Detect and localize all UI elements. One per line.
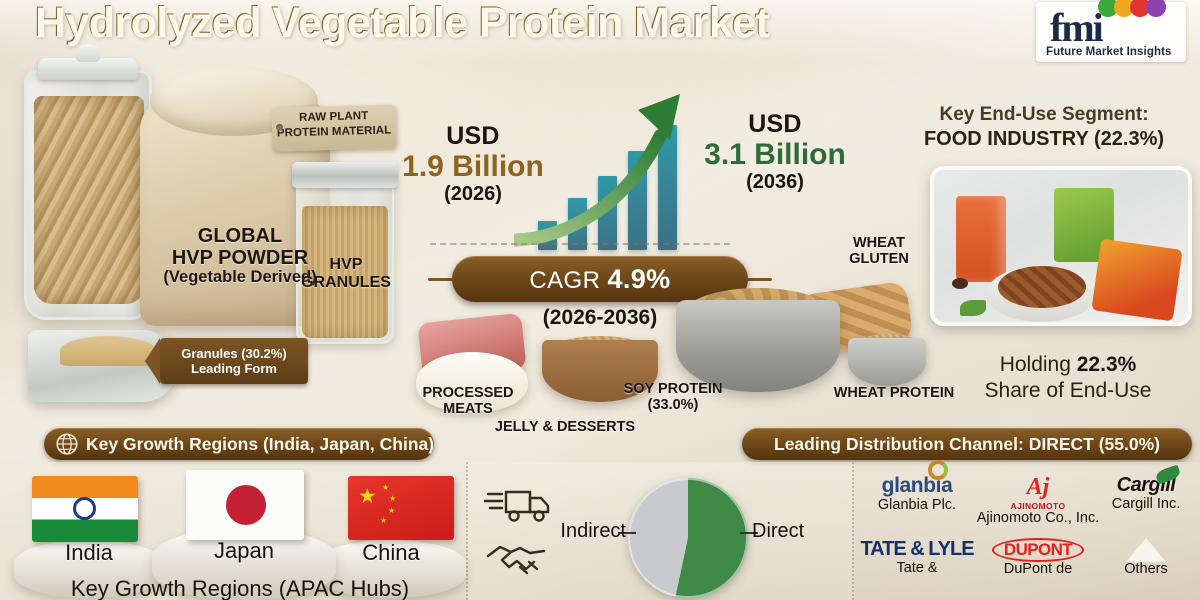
herb-leaf-image <box>960 300 986 316</box>
food-industry-photo <box>930 166 1192 326</box>
forecast-year: (2036) <box>690 171 860 194</box>
growth-bar-chart <box>520 90 700 250</box>
tate-lyle-logo-mark: TATE & LYLE <box>858 538 976 561</box>
page-title: Hydrolyzed Vegetable Protein Market <box>34 0 994 54</box>
ajinomoto-logo-mark: Aj <box>972 474 1104 501</box>
logo-dots-icon <box>1098 0 1168 19</box>
tate-lyle-caption: Tate & <box>858 561 976 577</box>
scoop-powder <box>60 336 156 366</box>
company-dupont: DUPONT DuPont de <box>972 538 1104 578</box>
label-soy-protein: SOY PROTEIN (33.0%) <box>608 382 738 414</box>
end-use-segment-title: Key End-Use Segment: FOOD INDUSTRY (22.3… <box>890 104 1198 151</box>
distribution-banner-label: Leading Distribution Channel: DIRECT (55… <box>774 434 1160 455</box>
juice-glass-image <box>956 196 1006 282</box>
holding-prefix: Holding <box>1000 353 1077 376</box>
logo-mark: fmi <box>1050 4 1102 51</box>
cagr-value: 4.9% <box>607 264 670 294</box>
raw-plant-material-tag: RAW PLANT PROTEIN MATERIAL <box>271 104 396 151</box>
bottle-cap <box>292 162 398 188</box>
hvp-granules-line2: GRANULES <box>300 274 392 292</box>
country-label-japan: Japan <box>152 538 336 564</box>
glanbia-logo-mark: glanbia <box>858 474 976 498</box>
chart-baseline-divider <box>430 243 730 245</box>
regions-banner-label: Key Growth Regions (India, Japan, China) <box>86 434 434 455</box>
infographic-canvas: Hydrolyzed Vegetable Protein Market fmi … <box>0 0 1200 600</box>
dupont-caption: DuPont de <box>972 562 1104 578</box>
orange-pouch-image <box>1091 239 1182 322</box>
label-jelly-desserts: JELLY & DESSERTS <box>484 420 646 436</box>
cargill-caption: Cargill Inc. <box>1094 497 1198 513</box>
granules-leading-form-badge: Granules (30.2%) Leading Form <box>160 338 308 384</box>
soy-protein-bowl-image <box>676 300 840 392</box>
india-flag-icon <box>32 476 138 542</box>
tag-raw-line1: RAW PLANT <box>299 110 369 124</box>
cagr-prefix: CAGR <box>529 267 600 294</box>
forecast-value: 3.1 Billion <box>690 139 860 171</box>
company-others: Others <box>1094 538 1198 578</box>
logo-tagline: Future Market Insights <box>1046 46 1172 58</box>
forecast-unit: USD <box>690 110 860 139</box>
company-ajinomoto: Aj AJINOMOTO Ajinomoto Co., Inc. <box>972 474 1104 527</box>
growth-arrow-icon <box>514 88 710 248</box>
china-flag-icon: ★★★ ★★ <box>348 476 454 540</box>
key-growth-regions-banner[interactable]: Key Growth Regions (India, Japan, China) <box>44 428 434 460</box>
company-glanbia: glanbia Glanbia Plc. <box>858 474 976 514</box>
pie-label-direct: Direct <box>752 520 842 543</box>
holding-value: 22.3% <box>1077 353 1137 376</box>
tag-raw-line2: PROTEIN MATERIAL <box>277 125 392 140</box>
wheat-protein-bowl-image <box>848 338 926 386</box>
hvp-granules-label: HVP GRANULES <box>300 256 392 291</box>
ajinomoto-caption: Ajinomoto Co., Inc. <box>972 511 1104 527</box>
hvp-granules-line1: HVP <box>300 256 392 274</box>
granules-badge-line2: Leading Form <box>191 361 277 376</box>
tag-hole-icon <box>276 124 283 131</box>
glanbia-caption: Glanbia Plc. <box>858 498 976 514</box>
dupont-logo-mark: DUPONT <box>992 538 1084 562</box>
company-cargill: Cargill Cargill Inc. <box>1094 474 1198 513</box>
glanbia-ring-icon <box>928 460 948 480</box>
global-line1: GLOBAL <box>150 226 330 248</box>
forecast-market-value: USD 3.1 Billion (2036) <box>690 110 860 194</box>
distribution-channel-banner[interactable]: Leading Distribution Channel: DIRECT (55… <box>742 428 1192 460</box>
japan-flag-icon <box>186 470 304 540</box>
cargill-logo-mark: Cargill <box>1094 474 1198 497</box>
end-use-title-line1: Key End-Use Segment: <box>890 104 1198 127</box>
veggie-patty-image <box>998 266 1086 308</box>
bean-image <box>952 278 968 289</box>
country-label-india: India <box>14 540 164 566</box>
jar-knob <box>76 44 100 62</box>
label-processed-meats: PROCESSED MEATS <box>408 386 528 418</box>
granules-badge-line1: Granules (30.2%) <box>181 346 287 361</box>
others-placeholder-icon <box>1094 538 1198 562</box>
company-tate-lyle: TATE & LYLE Tate & <box>858 538 976 577</box>
others-caption: Others <box>1094 562 1198 578</box>
end-use-title-line2: FOOD INDUSTRY (22.3%) <box>890 127 1198 151</box>
jar-contents <box>34 96 144 304</box>
holding-line2: Share of End-Use <box>940 378 1196 404</box>
pie-label-indirect: Indirect <box>530 520 626 543</box>
fmi-logo: fmi Future Market Insights <box>1036 2 1186 62</box>
apac-hubs-caption: Key Growth Regions (APAC Hubs) <box>30 576 450 600</box>
distribution-pie-chart <box>628 478 748 598</box>
hinomaru-icon <box>226 485 266 525</box>
globe-icon <box>54 431 80 457</box>
label-wheat-gluten: WHEAT GLUTEN <box>826 236 932 268</box>
country-label-china: China <box>316 540 466 566</box>
end-use-share-text: Holding 22.3% Share of End-Use <box>940 352 1196 404</box>
ashoka-chakra-icon <box>73 497 96 520</box>
